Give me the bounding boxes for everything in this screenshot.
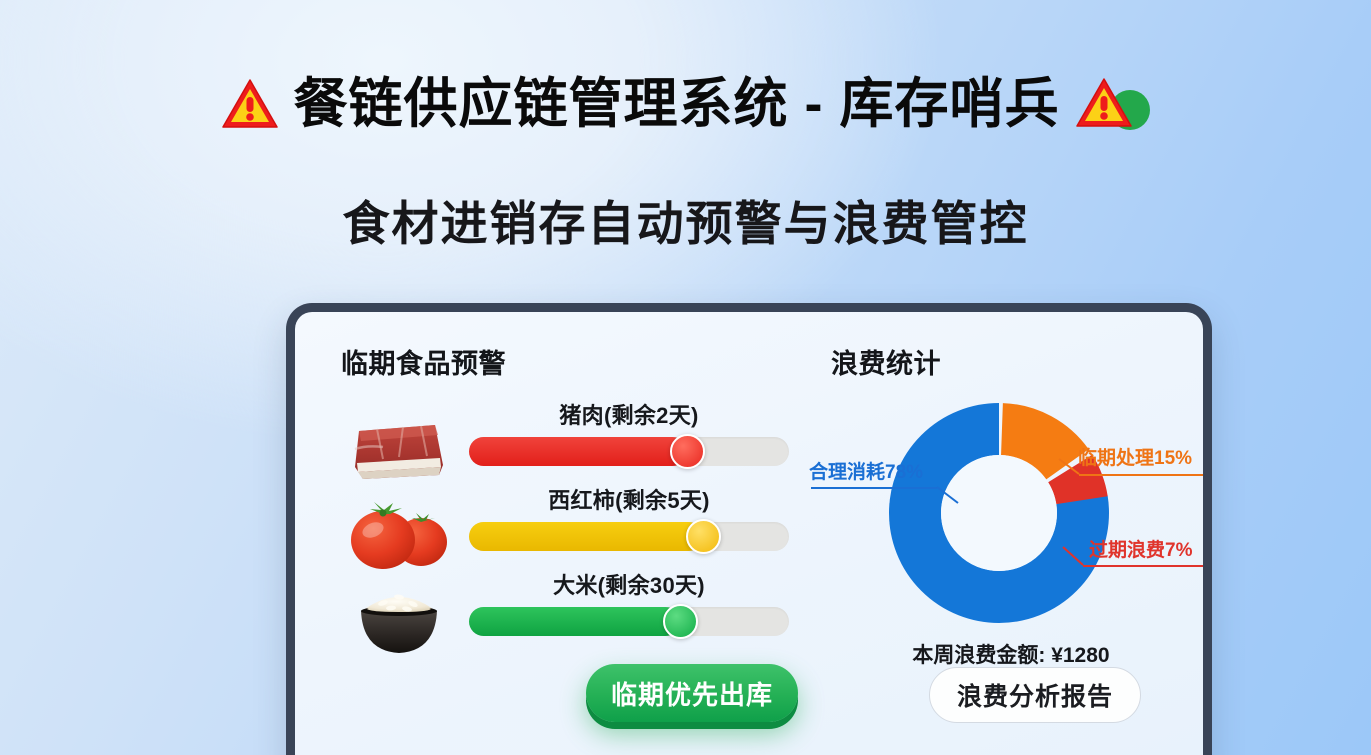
- expiry-alert-list: 猪肉(剩余2天): [341, 405, 841, 660]
- page-subtitle: 食材进销存自动预警与浪费管控: [0, 185, 1371, 254]
- waste-donut-chart: 合理消耗78% 临期处理15% 过期浪费7%: [831, 395, 1191, 635]
- tomato-image: [343, 494, 455, 574]
- expiry-progress-thumb[interactable]: [663, 604, 698, 639]
- donut-leader-line-orange: [1079, 474, 1205, 476]
- expiry-progress-track[interactable]: [469, 437, 789, 466]
- expiry-label: 大米(剩余30天): [469, 575, 789, 601]
- expiry-bar-area: 猪肉(剩余2天): [469, 405, 789, 466]
- pork-belly-image: [343, 409, 455, 489]
- expiry-progress-fill: [469, 607, 680, 636]
- expiry-progress-thumb[interactable]: [670, 434, 705, 469]
- expiry-bar-area: 西红柿(剩余5天): [469, 490, 789, 551]
- warning-triangle-icon: [220, 77, 280, 131]
- expiry-panel-title: 临期食品预警: [341, 342, 841, 381]
- waste-statistics-panel: 浪费统计 合理消耗78% 临期处理15% 过期浪费7%: [831, 342, 1191, 669]
- expiry-progress-track[interactable]: [469, 522, 789, 551]
- donut-label-expired: 过期浪费7%: [1089, 535, 1192, 562]
- donut-leader-line-blue: [811, 487, 937, 489]
- title-row: 餐链供应链管理系统 - 库存哨兵: [0, 76, 1371, 132]
- list-item[interactable]: 大米(剩余30天): [341, 575, 841, 660]
- expiry-label: 猪肉(剩余2天): [469, 405, 789, 431]
- waste-report-button[interactable]: 浪费分析报告: [929, 667, 1141, 723]
- rice-bowl-image: [343, 579, 455, 659]
- list-item[interactable]: 猪肉(剩余2天): [341, 405, 841, 490]
- donut-label-reasonable: 合理消耗78%: [809, 457, 923, 484]
- weekly-waste-amount: 本周浪费金额: ¥1280: [831, 639, 1191, 669]
- expiry-progress-track[interactable]: [469, 607, 789, 636]
- laptop-mockup: 临期食品预警: [286, 303, 1212, 755]
- priority-dispatch-button[interactable]: 临期优先出库: [586, 664, 798, 722]
- page-title: 餐链供应链管理系统 - 库存哨兵: [294, 77, 1060, 131]
- expiry-progress-fill: [469, 522, 703, 551]
- warning-triangle-icon: [1074, 76, 1134, 130]
- expiry-progress-fill: [469, 437, 687, 466]
- expiry-alert-panel: 临期食品预警: [341, 342, 841, 660]
- expiry-bar-area: 大米(剩余30天): [469, 575, 789, 636]
- donut-leader-line-red: [1083, 565, 1209, 567]
- expiry-progress-thumb[interactable]: [686, 519, 721, 554]
- waste-panel-title: 浪费统计: [831, 342, 1191, 381]
- donut-label-nearexpiry: 临期处理15%: [1078, 443, 1192, 470]
- app-screen: 临期食品预警: [295, 312, 1203, 755]
- list-item[interactable]: 西红柿(剩余5天): [341, 490, 841, 575]
- warning-with-status: [1074, 76, 1152, 132]
- expiry-label: 西红柿(剩余5天): [469, 490, 789, 516]
